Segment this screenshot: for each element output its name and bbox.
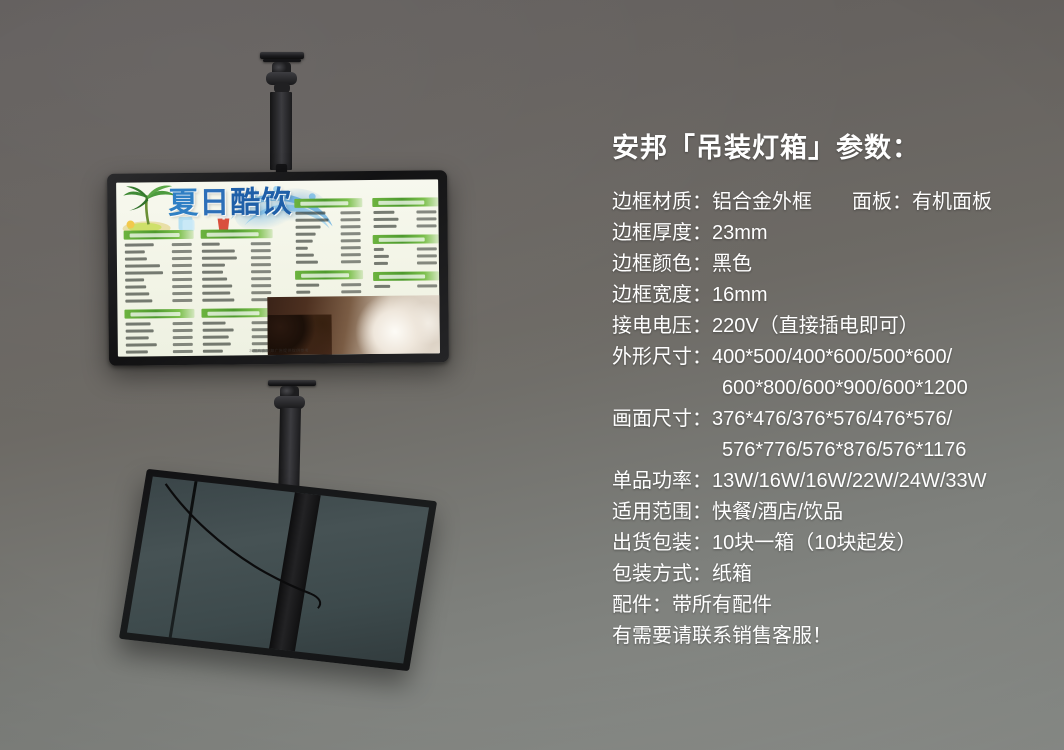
mount-pole-upper — [270, 92, 292, 170]
menu-item-name — [202, 243, 220, 246]
menu-item-price — [416, 218, 436, 221]
menu-item-name — [125, 293, 149, 296]
product-photo-scene: 夏日酷饮 本图片由安邦广告提供仅供参考 安邦「吊装灯箱」参数： 边框材质：铝合金… — [0, 0, 1064, 750]
rear-panel-face — [127, 476, 429, 663]
menu-item-name — [202, 285, 232, 288]
menu-item-price — [417, 225, 437, 228]
menu-item-name — [374, 225, 397, 228]
menu-item-name — [296, 291, 310, 294]
menu-item-name — [202, 250, 235, 253]
menu-section-header — [201, 229, 273, 239]
menu-item-price — [417, 285, 437, 288]
menu-item-price — [417, 248, 437, 251]
menu-item-name — [125, 300, 152, 303]
menu-item-price — [341, 246, 361, 249]
menu-item-price — [341, 283, 361, 286]
specifications-list: 边框材质：铝合金外框 面板：有机面板边框厚度：23mm边框颜色：黑色边框宽度：1… — [612, 187, 1032, 652]
menu-section-header — [124, 230, 194, 240]
menu-item-columns — [116, 179, 438, 182]
menu-item-price — [251, 270, 271, 273]
menu-item-name — [125, 286, 146, 289]
menu-section-header — [372, 197, 438, 207]
menu-item-name — [126, 330, 154, 333]
specifications-title: 安邦「吊装灯箱」参数： — [612, 126, 1032, 165]
specification-line: 单品功率：13W/16W/16W/22W/24W/33W — [612, 466, 1032, 497]
menu-item-name — [374, 262, 388, 265]
menu-item-name — [373, 218, 398, 221]
menu-item-price — [417, 262, 437, 265]
menu-section-header — [124, 309, 194, 319]
menu-item-price — [251, 256, 271, 259]
menu-item-name — [126, 323, 151, 326]
menu-item-name — [202, 299, 234, 302]
light-box-rear-panel — [119, 469, 437, 671]
menu-item-price — [251, 242, 271, 245]
specification-line: 600*800/600*900/600*1200 — [612, 373, 1032, 404]
menu-item-name — [374, 255, 389, 258]
menu-item-name — [295, 212, 325, 215]
menu-item-price — [172, 285, 192, 288]
menu-item-name — [202, 292, 230, 295]
menu-item-price — [416, 211, 436, 214]
menu-section-header — [295, 270, 363, 280]
menu-item-name — [125, 258, 147, 261]
menu-item-name — [203, 336, 229, 339]
menu-title-char-2: 日 — [199, 186, 230, 219]
menu-item-price — [341, 225, 361, 228]
menu-item-price — [251, 291, 271, 294]
menu-item-name — [296, 247, 308, 250]
specifications-panel: 安邦「吊装灯箱」参数： 边框材质：铝合金外框 面板：有机面板边框厚度：23mm边… — [612, 126, 1032, 652]
menu-item-name — [125, 264, 160, 267]
menu-title: 夏日酷饮 — [168, 188, 292, 219]
menu-section-spacer — [202, 354, 274, 357]
menu-item-price — [173, 329, 193, 332]
menu-item-name — [296, 254, 314, 257]
menu-item-name — [203, 329, 234, 332]
menu-section-header — [294, 198, 362, 208]
menu-item-name — [203, 343, 231, 346]
menu-item-name — [296, 226, 321, 229]
menu-item-name — [374, 248, 384, 251]
menu-section-header — [373, 271, 439, 281]
specification-line: 适用范围：快餐/酒店/饮品 — [612, 497, 1032, 528]
specification-line: 出货包装：10块一箱（10块起发） — [612, 528, 1032, 559]
specification-line: 外形尺寸：400*500/400*600/500*600/ — [612, 342, 1032, 373]
menu-item-price — [341, 253, 361, 256]
menu-section-spacer — [125, 355, 195, 357]
menu-title-char-3: 酷饮 — [230, 186, 292, 220]
menu-item-price — [251, 284, 271, 287]
specification-line: 边框厚度：23mm — [612, 218, 1032, 249]
menu-item-name — [125, 243, 154, 246]
menu-column — [201, 229, 274, 357]
menu-item-name — [126, 343, 157, 346]
menu-item-name — [295, 219, 328, 222]
menu-item-price — [172, 243, 192, 246]
menu-item-name — [296, 233, 316, 236]
menu-item-name — [203, 350, 223, 353]
menu-item-name — [202, 257, 237, 260]
menu-item-price — [341, 239, 361, 242]
menu-item-name — [202, 271, 223, 274]
menu-item-name — [374, 285, 390, 288]
specification-line: 接电电压：220V（直接插电即可） — [612, 311, 1032, 342]
ceiling-mount-plate — [260, 52, 304, 59]
specification-line: 边框材质：铝合金外框 面板：有机面板 — [612, 187, 1032, 218]
menu-item-price — [417, 255, 437, 258]
specification-line: 有需要请联系销售客服！ — [612, 621, 1032, 652]
menu-item-name — [373, 211, 394, 214]
menu-item-price — [172, 250, 192, 253]
menu-item-name — [203, 322, 226, 325]
menu-item-name — [126, 337, 149, 340]
menu-section-header — [373, 234, 439, 244]
menu-item-name — [125, 271, 163, 274]
coffee-photo — [267, 295, 440, 355]
menu-item-price — [340, 211, 360, 214]
menu-item-price — [173, 322, 193, 325]
menu-item-price — [251, 277, 271, 280]
menu-title-char-1: 夏 — [168, 187, 199, 220]
menu-column — [372, 197, 439, 295]
menu-item-price — [340, 218, 360, 221]
menu-item-price — [172, 271, 192, 274]
menu-item-price — [172, 257, 192, 260]
menu-item-name — [126, 351, 148, 354]
menu-watermark: 本图片由安邦广告提供仅供参考 — [249, 348, 309, 355]
menu-item-name — [202, 278, 227, 281]
menu-item-name — [296, 284, 319, 287]
menu-item-price — [173, 350, 193, 353]
specification-line: 包装方式：纸箱 — [612, 559, 1032, 590]
menu-section-spacer — [373, 289, 439, 295]
menu-item-price — [172, 299, 192, 302]
specification-line: 配件：带所有配件 — [612, 590, 1032, 621]
menu-item-price — [341, 260, 361, 263]
specification-line: 画面尺寸：376*476/376*576/476*576/ — [612, 404, 1032, 435]
menu-item-price — [341, 232, 361, 235]
menu-item-name — [125, 251, 145, 254]
menu-item-name — [202, 264, 225, 267]
menu-column — [124, 230, 195, 357]
specification-line: 边框颜色：黑色 — [612, 249, 1032, 280]
menu-display-face: 夏日酷饮 本图片由安邦广告提供仅供参考 — [116, 179, 440, 356]
menu-item-price — [172, 264, 192, 267]
power-cable — [127, 476, 429, 663]
menu-item-price — [172, 278, 192, 281]
menu-section-header — [201, 308, 273, 318]
menu-item-price — [172, 292, 192, 295]
specification-line: 576*776/576*876/576*1176 — [612, 435, 1032, 466]
menu-item-price — [251, 249, 271, 252]
menu-item-price — [341, 290, 361, 293]
specification-line: 边框宽度：16mm — [612, 280, 1032, 311]
menu-item-price — [173, 343, 193, 346]
menu-item-price — [251, 263, 271, 266]
ceiling-mounted-light-box: 夏日酷饮 本图片由安邦广告提供仅供参考 — [107, 170, 449, 366]
menu-item-name — [125, 279, 144, 282]
menu-item-price — [173, 336, 193, 339]
menu-item-name — [296, 261, 318, 264]
menu-item-name — [296, 240, 313, 243]
